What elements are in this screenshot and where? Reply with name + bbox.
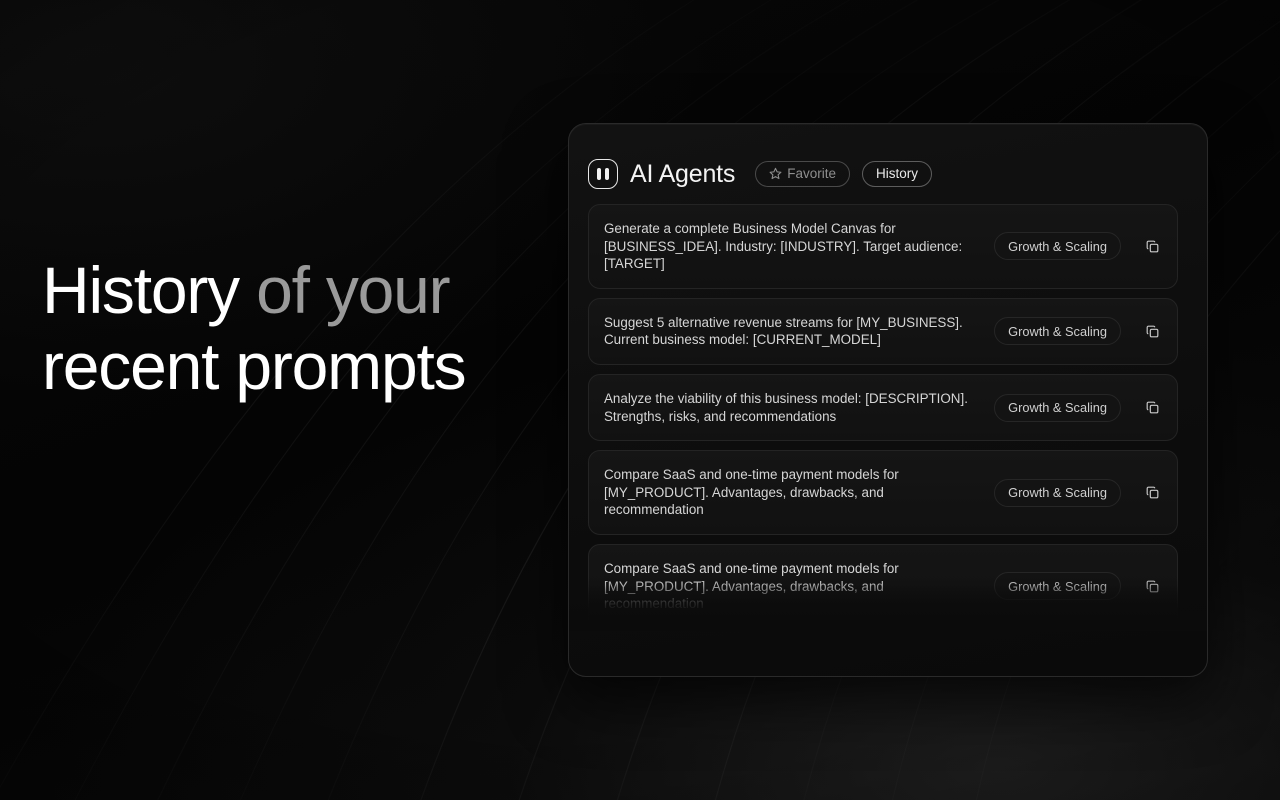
copy-icon[interactable] — [1139, 233, 1165, 259]
headline-words-of-your: of your — [256, 253, 449, 327]
category-tag[interactable]: Growth & Scaling — [994, 394, 1121, 422]
list-item[interactable]: Compare SaaS and one-time payment models… — [588, 544, 1178, 629]
copy-icon[interactable] — [1139, 480, 1165, 506]
app-root: History of your recent prompts AI Agents… — [0, 0, 1280, 800]
category-tag[interactable]: Growth & Scaling — [994, 317, 1121, 345]
list-item[interactable]: Suggest 5 alternative revenue streams fo… — [588, 298, 1178, 365]
history-filter-label: History — [876, 167, 918, 181]
headline-line-2: recent prompts — [42, 329, 465, 403]
headline-word-history: History — [42, 253, 239, 327]
copy-icon[interactable] — [1139, 395, 1165, 421]
prompt-text: Analyze the viability of this business m… — [604, 390, 994, 425]
panel-header: AI Agents Favorite History — [569, 124, 1207, 196]
copy-icon[interactable] — [1139, 573, 1165, 599]
prompt-text: Suggest 5 alternative revenue streams fo… — [604, 314, 994, 349]
copy-icon[interactable] — [1139, 318, 1165, 344]
prompt-history-list[interactable]: Generate a complete Business Model Canva… — [569, 196, 1207, 629]
list-item[interactable]: Analyze the viability of this business m… — [588, 374, 1178, 441]
list-item[interactable]: Generate a complete Business Model Canva… — [588, 204, 1178, 289]
category-tag[interactable]: Growth & Scaling — [994, 232, 1121, 260]
history-filter-button[interactable]: History — [862, 161, 932, 187]
panel-title: AI Agents — [630, 159, 735, 189]
category-tag[interactable]: Growth & Scaling — [994, 572, 1121, 600]
category-tag[interactable]: Growth & Scaling — [994, 479, 1121, 507]
star-icon — [769, 167, 782, 180]
ai-agents-icon — [588, 159, 618, 189]
ai-agents-panel: AI Agents Favorite History Generate a co… — [568, 123, 1208, 677]
prompt-text: Compare SaaS and one-time payment models… — [604, 560, 994, 613]
favorite-filter-label: Favorite — [787, 167, 836, 181]
prompt-text: Generate a complete Business Model Canva… — [604, 220, 994, 273]
list-item[interactable]: Compare SaaS and one-time payment models… — [588, 450, 1178, 535]
favorite-filter-button[interactable]: Favorite — [755, 161, 850, 187]
prompt-text: Compare SaaS and one-time payment models… — [604, 466, 994, 519]
page-title: History of your recent prompts — [42, 252, 562, 404]
